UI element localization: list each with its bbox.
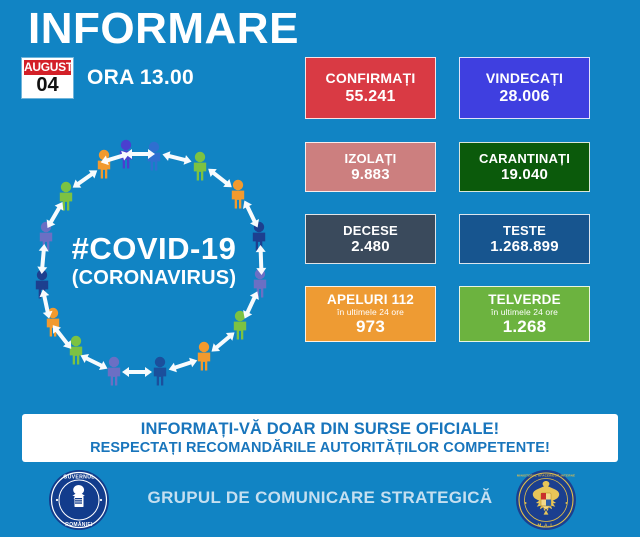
stat-value-izolati: 9.883 bbox=[351, 166, 390, 184]
calendar-month-label: AUGUST bbox=[24, 60, 71, 75]
stat-label-telverde: TELVERDE bbox=[488, 292, 561, 307]
stat-card-decese[interactable]: DECESE 2.480 bbox=[305, 214, 436, 264]
stat-label-carantinati: CARANTINAȚI bbox=[479, 151, 570, 166]
stat-value-telverde: 1.268 bbox=[503, 317, 547, 336]
calendar-icon: AUGUST 04 bbox=[22, 58, 73, 98]
banner-subheadline: RESPECTAȚI RECOMANDĂRILE AUTORITĂȚILOR C… bbox=[90, 439, 550, 457]
stat-label-apeluri-112: APELURI 112 bbox=[327, 292, 414, 307]
stat-row-2: IZOLAȚI 9.883 CARANTINAȚI 19.040 bbox=[305, 142, 590, 192]
calendar-day-label: 04 bbox=[24, 75, 71, 96]
stat-label-decese: DECESE bbox=[343, 223, 398, 238]
statistics-grid: CONFIRMAȚI 55.241 VINDECAȚI 28.006 IZOLA… bbox=[305, 57, 590, 342]
person-figures bbox=[36, 140, 266, 386]
stat-row-4: APELURI 112 în ultimele 24 ore 973 TELVE… bbox=[305, 286, 590, 342]
stat-value-teste: 1.268.899 bbox=[490, 238, 559, 256]
stat-value-vindecati: 28.006 bbox=[499, 87, 549, 107]
stat-card-carantinati[interactable]: CARANTINAȚI 19.040 bbox=[459, 142, 590, 192]
ministerul-afacerilor-interne-seal: MINISTERUL AFACERILOR INTERNE M.A.I. bbox=[515, 469, 577, 536]
stat-card-vindecati[interactable]: VINDECAȚI 28.006 bbox=[459, 57, 590, 119]
svg-text:GUVERNUL: GUVERNUL bbox=[63, 475, 95, 481]
date-time-row: AUGUST 04 ORA 13.00 bbox=[22, 58, 194, 98]
stat-label-teste: TESTE bbox=[503, 223, 546, 238]
official-sources-banner: INFORMAȚI-VĂ DOAR DIN SURSE OFICIALE! RE… bbox=[22, 414, 618, 462]
stat-note-telverde: în ultimele 24 ore bbox=[491, 307, 558, 317]
stat-label-izolati: IZOLAȚI bbox=[345, 151, 397, 166]
time-label: ORA 13.00 bbox=[87, 66, 194, 90]
page-title: INFORMARE bbox=[28, 6, 299, 52]
stat-row-3: DECESE 2.480 TESTE 1.268.899 bbox=[305, 214, 590, 264]
stat-card-apeluri-112[interactable]: APELURI 112 în ultimele 24 ore 973 bbox=[305, 286, 436, 342]
stat-row-1: CONFIRMAȚI 55.241 VINDECAȚI 28.006 bbox=[305, 57, 590, 119]
stat-label-confirmati: CONFIRMAȚI bbox=[326, 70, 416, 87]
stat-value-confirmati: 55.241 bbox=[345, 87, 395, 107]
stat-value-decese: 2.480 bbox=[351, 238, 390, 256]
stat-value-carantinati: 19.040 bbox=[501, 166, 548, 184]
people-circle-svg bbox=[8, 128, 300, 400]
stat-label-vindecati: VINDECAȚI bbox=[486, 70, 563, 87]
footer: GUVERNUL ROMÂNIEI GRUPUL DE COMUNICARE S… bbox=[0, 466, 640, 537]
stat-card-teste[interactable]: TESTE 1.268.899 bbox=[459, 214, 590, 264]
mai-seal-icon: MINISTERUL AFACERILOR INTERNE M.A.I. bbox=[515, 469, 577, 531]
stat-card-telverde[interactable]: TELVERDE în ultimele 24 ore 1.268 bbox=[459, 286, 590, 342]
stat-note-apeluri-112: în ultimele 24 ore bbox=[337, 307, 404, 317]
stat-card-izolati[interactable]: IZOLAȚI 9.883 bbox=[305, 142, 436, 192]
banner-headline: INFORMAȚI-VĂ DOAR DIN SURSE OFICIALE! bbox=[141, 419, 499, 439]
stat-value-apeluri-112: 973 bbox=[356, 317, 385, 336]
svg-text:MINISTERUL AFACERILOR INTERNE: MINISTERUL AFACERILOR INTERNE bbox=[517, 474, 575, 478]
svg-text:M.A.I.: M.A.I. bbox=[537, 523, 554, 528]
people-circle-diagram: #COVID-19 (CORONAVIRUS) bbox=[8, 128, 300, 400]
svg-text:ROMÂNIEI: ROMÂNIEI bbox=[65, 521, 93, 528]
stat-card-confirmati[interactable]: CONFIRMAȚI 55.241 bbox=[305, 57, 436, 119]
